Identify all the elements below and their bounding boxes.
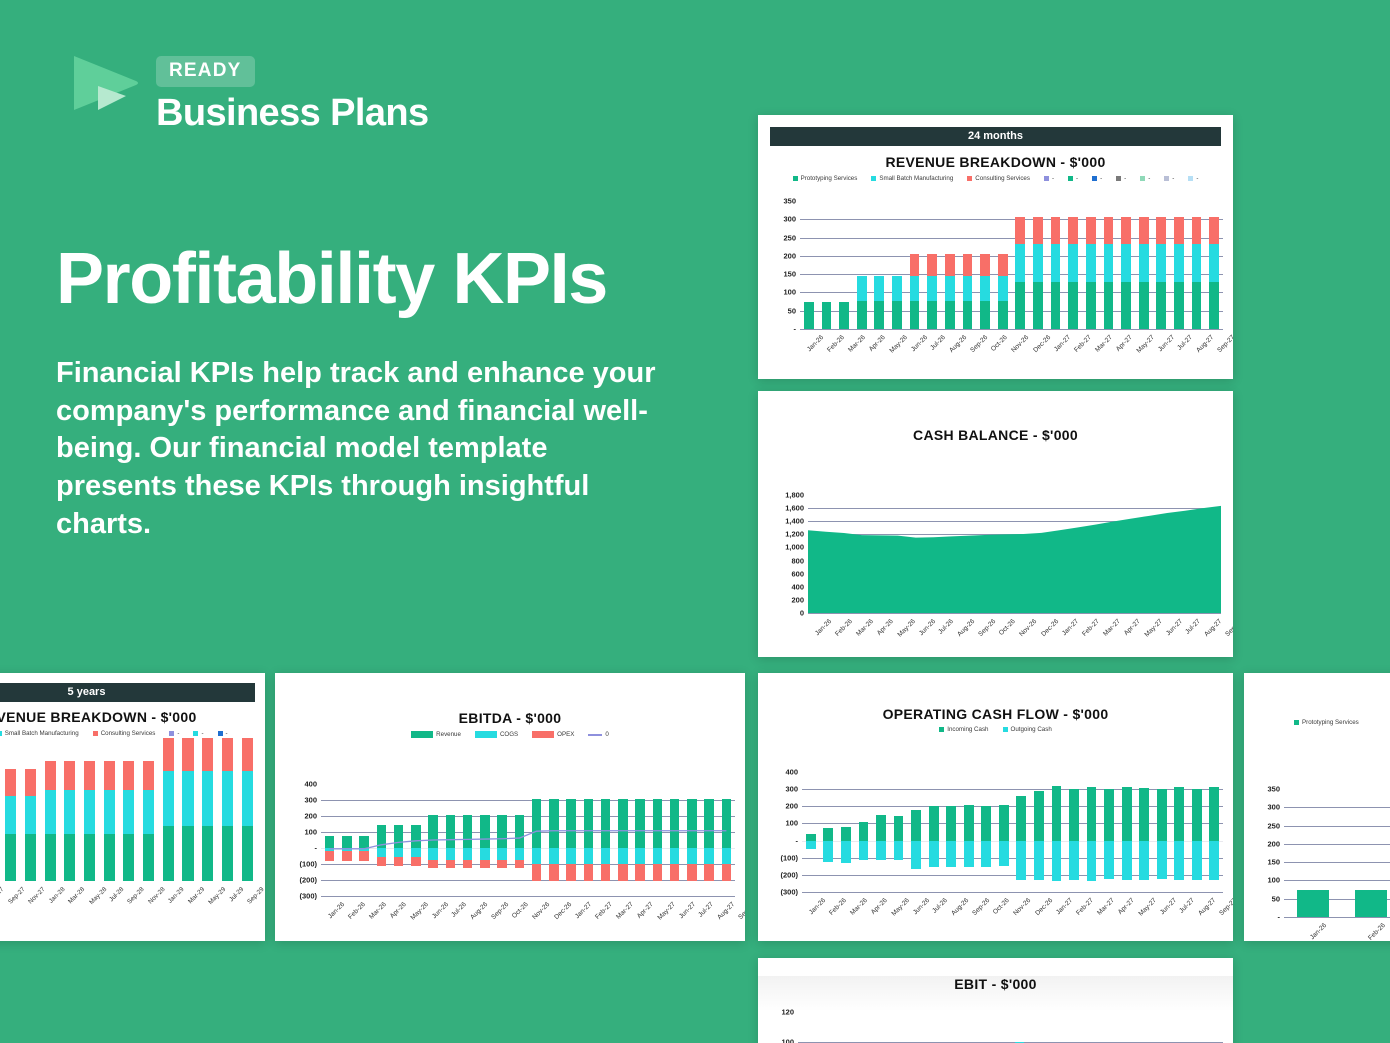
y-axis-tick: 200	[783, 251, 796, 260]
bar-group[interactable]	[837, 772, 855, 892]
bar-group-empty	[851, 1012, 869, 1043]
bar-segment	[1087, 841, 1097, 882]
legend-label: Small Batch Manufacturing	[5, 730, 79, 737]
chart-legend-operating-cash-flow: Incoming CashOutgoing Cash	[758, 726, 1233, 733]
x-axis-tick: Jul-27	[1176, 334, 1194, 352]
bar-group[interactable]	[1010, 1012, 1028, 1043]
bar-segment	[123, 761, 134, 790]
bar-group[interactable]	[1100, 201, 1118, 329]
legend-swatch-icon	[1294, 720, 1299, 725]
x-axis-tick: Feb-26	[834, 618, 854, 638]
legend-swatch-icon	[411, 731, 433, 738]
legend-label: -	[1148, 175, 1150, 182]
y-axis-tick: (100)	[780, 853, 798, 862]
bar-segment	[84, 790, 95, 834]
card-revenue-breakdown-5y: 5 years REVENUE BREAKDOWN - $'000 Protot…	[0, 673, 265, 941]
bar-segment	[874, 276, 884, 301]
x-axis-tick: Aug-26	[469, 901, 489, 921]
legend-item: Prototyping Services	[793, 175, 858, 182]
x-axis-tick: Jul-26	[450, 901, 468, 919]
bar-segment	[911, 841, 921, 870]
bar-group[interactable]	[1284, 789, 1342, 917]
bar-group[interactable]	[853, 201, 871, 329]
bar-segment	[823, 828, 833, 840]
bar-segment	[1192, 789, 1202, 840]
x-axis-slot: Jul-27	[0, 884, 1, 893]
y-axis-tick: 300	[1267, 803, 1280, 812]
bar-group[interactable]	[1188, 201, 1206, 329]
legend-item: -	[218, 730, 228, 737]
bar-segment	[964, 805, 974, 841]
bar-segment	[5, 796, 16, 834]
x-axis-tick: May-27	[1143, 618, 1164, 639]
legend-item: Outgoing Cash	[1003, 726, 1052, 733]
bar-segment	[1015, 282, 1025, 329]
legend-item: -	[1188, 175, 1198, 182]
x-axis-tick: Mar-26	[368, 901, 388, 921]
bar-group[interactable]	[1187, 1012, 1205, 1043]
bar-group[interactable]	[1206, 772, 1224, 892]
y-axis-tick: 100	[1267, 876, 1280, 885]
bar-segment	[163, 738, 174, 771]
bar-group[interactable]	[1048, 772, 1066, 892]
y-axis-tick: -	[794, 325, 797, 334]
bar-group[interactable]	[1342, 789, 1390, 917]
bar-group[interactable]	[1012, 201, 1030, 329]
bar-segment	[1069, 841, 1079, 880]
bar-group[interactable]	[1170, 201, 1188, 329]
legend-label: Incoming Cash	[947, 726, 988, 733]
bar-series	[800, 201, 1223, 329]
x-axis-tick: Nov-27	[27, 886, 47, 906]
bar-group[interactable]	[1046, 1012, 1064, 1043]
legend-item: -	[169, 730, 179, 737]
x-axis-tick: Aug-27	[1203, 618, 1223, 638]
x-axis-labels: Jan-26Feb-26Mar-26Apr-26May-	[1284, 920, 1390, 929]
bar-segment	[1016, 841, 1026, 881]
x-axis-tick: Sep-29	[246, 886, 265, 906]
x-axis-tick: Nov-26	[1012, 897, 1032, 917]
y-axis-tick: 300	[783, 215, 796, 224]
bar-group[interactable]	[1135, 772, 1153, 892]
bar-group[interactable]	[818, 201, 836, 329]
legend-swatch-icon	[967, 176, 972, 181]
x-axis-tick: Dec-26	[1040, 618, 1060, 638]
y-axis-tick: 250	[1267, 821, 1280, 830]
x-axis-tick: Sep-27	[737, 901, 745, 921]
bar-group[interactable]	[994, 201, 1012, 329]
x-axis-tick: Aug-26	[956, 618, 976, 638]
bar-group[interactable]	[976, 201, 994, 329]
page-description: Financial KPIs help track and enhance yo…	[56, 355, 656, 543]
bar-segment	[25, 834, 36, 881]
x-axis-tick: Jan-26	[806, 334, 825, 353]
bar-group[interactable]	[1170, 1012, 1188, 1043]
bar-group[interactable]	[1170, 772, 1188, 892]
chart-title-ebitda: EBITDA - $'000	[275, 710, 745, 726]
x-axis-labels: Jan-26Feb-26Mar-26Apr-26May-26Jun-26Jul-…	[808, 616, 1221, 625]
bar-segment	[1104, 217, 1114, 244]
y-axis-tick: 400	[791, 582, 804, 591]
y-axis-labels: 35030025020015010050-	[770, 201, 800, 329]
bar-group[interactable]	[888, 201, 906, 329]
bar-group[interactable]	[942, 772, 960, 892]
bar-group[interactable]	[139, 753, 159, 881]
bar-segment	[1034, 841, 1044, 881]
bar-group[interactable]	[1205, 1012, 1223, 1043]
y-axis-tick: (200)	[299, 876, 317, 885]
y-axis-tick: (100)	[299, 860, 317, 869]
legend-label: -	[1100, 175, 1102, 182]
bar-group[interactable]	[237, 753, 257, 881]
bar-segment	[841, 827, 851, 840]
y-axis-tick: 1,000	[785, 543, 804, 552]
bar-group[interactable]	[1, 753, 21, 881]
x-axis-tick: Feb-27	[1081, 618, 1101, 638]
x-axis-tick: Aug-27	[716, 901, 736, 921]
bar-segment	[104, 790, 115, 834]
bar-segment	[1104, 841, 1114, 880]
x-axis-tick: Sep-27	[7, 886, 27, 906]
legend-item: -	[1068, 175, 1078, 182]
bar-segment	[1139, 217, 1149, 244]
x-axis-tick: Aug-26	[950, 897, 970, 917]
chart-title-cash-balance: CASH BALANCE - $'000	[758, 427, 1233, 443]
x-axis-tick: Mar-26	[847, 334, 867, 354]
legend-item: Small Batch Manufacturing	[871, 175, 953, 182]
bar-group[interactable]	[890, 772, 908, 892]
x-axis-tick: Sep-26	[969, 334, 989, 354]
bar-group[interactable]	[198, 753, 218, 881]
x-axis-tick: Jul-27	[1178, 897, 1196, 915]
y-axis-labels: 35030025020015010050-	[1250, 789, 1284, 917]
legend-label: -	[1124, 175, 1126, 182]
y-axis-tick: 250	[783, 233, 796, 242]
y-axis-labels: 1,8001,6001,4001,2001,0008006004002000	[772, 495, 808, 613]
bar-group[interactable]	[960, 772, 978, 892]
legend-item: -	[1116, 175, 1126, 182]
bar-segment	[1156, 282, 1166, 329]
bar-group[interactable]	[871, 201, 889, 329]
x-axis-tick: Jul-29	[228, 886, 245, 903]
bar-segment	[1033, 244, 1043, 282]
x-axis-tick: Jun-27	[1156, 334, 1175, 353]
chart-title-operating-cash-flow: OPERATING CASH FLOW - $'000	[758, 706, 1233, 722]
x-axis-tick: Jan-26	[1309, 922, 1328, 941]
y-axis-tick: 120	[781, 1008, 794, 1017]
bar-segment	[5, 769, 16, 796]
bar-group-empty	[993, 1012, 1011, 1043]
band-label-24-months: 24 months	[770, 127, 1221, 146]
page-title: Profitability KPIs	[56, 243, 607, 316]
bar-segment	[980, 301, 990, 329]
legend-item: -	[1044, 175, 1054, 182]
legend-label: Consulting Services	[101, 730, 156, 737]
bar-segment	[1192, 282, 1202, 329]
x-axis-tick: May-29	[208, 886, 228, 906]
bar-segment	[84, 761, 95, 790]
gridlines	[808, 495, 1221, 613]
x-axis-slot: Jan-26	[1284, 920, 1342, 929]
gridline	[802, 892, 1223, 893]
y-axis-tick: 350	[783, 197, 796, 206]
bar-segment	[1087, 787, 1097, 840]
bar-segment	[963, 254, 973, 276]
bar-group[interactable]	[119, 753, 139, 881]
bar-segment	[1209, 787, 1219, 840]
bar-segment	[1104, 244, 1114, 282]
bar-segment	[1209, 244, 1219, 282]
chart-plot-ebit: 12010080	[772, 1012, 1223, 1043]
bar-segment	[1355, 890, 1387, 917]
y-axis-labels: 400300200100-(100)(200)(300)	[287, 784, 321, 896]
chart-legend-revenue-partial: Prototyping Services	[1244, 719, 1390, 726]
bar-group[interactable]	[959, 201, 977, 329]
bar-segment	[1104, 282, 1114, 329]
x-axis-tick: Apr-27	[1117, 897, 1136, 916]
bar-group-empty	[957, 1012, 975, 1043]
bar-segment	[1104, 789, 1114, 840]
bar-segment	[980, 254, 990, 276]
x-axis-tick: May-26	[888, 334, 909, 355]
x-axis-tick: Mar-29	[187, 886, 206, 905]
x-axis-tick: May-27	[1137, 897, 1158, 918]
x-axis-tick: Sep-27	[1224, 618, 1233, 638]
bar-group[interactable]	[907, 772, 925, 892]
bar-group[interactable]	[1135, 201, 1153, 329]
x-axis-tick: Jul-26	[937, 618, 955, 636]
bar-group[interactable]	[855, 772, 873, 892]
legend-label: Small Batch Manufacturing	[879, 175, 953, 182]
gridlines	[0, 753, 257, 881]
legend-swatch-icon	[1092, 176, 1097, 181]
bar-group[interactable]	[1099, 1012, 1117, 1043]
x-axis-tick: Apr-26	[389, 901, 408, 920]
x-axis-tick: Dec-26	[1034, 897, 1054, 917]
y-axis-tick: 1,600	[785, 504, 804, 513]
x-axis-tick: Mar-26	[849, 897, 869, 917]
bar-segment	[202, 738, 213, 771]
legend-swatch-icon	[193, 731, 198, 736]
chart-title-revenue-5y: REVENUE BREAKDOWN - $'000	[0, 709, 265, 725]
bar-segment	[45, 790, 56, 834]
legend-label: -	[1196, 175, 1198, 182]
legend-swatch-icon	[1164, 176, 1169, 181]
bar-group[interactable]	[1134, 1012, 1152, 1043]
bar-group[interactable]	[1064, 201, 1082, 329]
legend-label: -	[1172, 175, 1174, 182]
bar-segment	[927, 276, 937, 301]
x-axis-slot: Jan-26	[808, 616, 828, 625]
y-axis-tick: 200	[1267, 839, 1280, 848]
bar-segment	[1051, 217, 1061, 244]
legend-item: -	[1092, 175, 1102, 182]
bar-segment	[1068, 217, 1078, 244]
bar-group[interactable]	[1064, 1012, 1082, 1043]
zero-trend-line	[321, 784, 735, 896]
legend-label: -	[177, 730, 179, 737]
bar-segment	[999, 805, 1009, 841]
bar-group[interactable]	[1083, 772, 1101, 892]
bar-group[interactable]	[1013, 772, 1031, 892]
x-axis-tick: Oct-26	[998, 618, 1017, 637]
bar-segment	[1192, 841, 1202, 880]
bar-group[interactable]	[1117, 1012, 1135, 1043]
x-axis-tick: Jan-27	[1053, 334, 1072, 353]
bar-segment	[929, 806, 939, 841]
legend-swatch-icon	[588, 734, 602, 736]
bar-group[interactable]	[906, 201, 924, 329]
bar-group[interactable]	[1029, 201, 1047, 329]
bar-group[interactable]	[923, 201, 941, 329]
bar-group[interactable]	[800, 201, 818, 329]
bar-group[interactable]	[60, 753, 80, 881]
bar-group[interactable]	[1081, 1012, 1099, 1043]
x-axis-tick: Feb-26	[347, 901, 367, 921]
x-axis-tick: Aug-26	[948, 334, 968, 354]
bar-group[interactable]	[1205, 201, 1223, 329]
bar-group[interactable]	[1117, 201, 1135, 329]
bar-group[interactable]	[802, 772, 820, 892]
x-axis-tick: Apr-26	[868, 334, 887, 353]
bar-segment	[822, 302, 832, 329]
bar-group[interactable]	[99, 753, 119, 881]
chart-legend-revenue-5y: Prototyping ServicesSmall Batch Manufact…	[0, 730, 265, 737]
bar-segment	[910, 254, 920, 276]
bar-segment	[1068, 282, 1078, 329]
bar-segment	[1156, 244, 1166, 282]
x-axis-labels: Jan-26Feb-26Mar-26Apr-26May-26Jun-26Jul-…	[802, 895, 1223, 904]
legend-swatch-icon	[1068, 176, 1073, 181]
legend-item: COGS	[475, 731, 518, 738]
bar-group[interactable]	[218, 753, 238, 881]
bar-group[interactable]	[1030, 772, 1048, 892]
gridlines	[321, 784, 735, 896]
bar-segment	[222, 771, 233, 826]
bar-group[interactable]	[40, 753, 60, 881]
x-axis-tick: Feb-27	[594, 901, 614, 921]
bar-segment	[222, 826, 233, 881]
x-axis-tick: Sep-27	[1218, 897, 1233, 917]
bar-group[interactable]	[178, 753, 198, 881]
chart-title-revenue-24m: REVENUE BREAKDOWN - $'000	[758, 154, 1233, 170]
legend-swatch-icon	[793, 176, 798, 181]
legend-label: -	[201, 730, 203, 737]
bar-segment	[964, 841, 974, 867]
y-axis-tick: 50	[1272, 894, 1280, 903]
legend-item: 0	[588, 731, 608, 738]
y-axis-tick: 150	[1267, 858, 1280, 867]
bar-group[interactable]	[158, 753, 178, 881]
y-axis-tick: 400	[304, 780, 317, 789]
bar-segment	[1121, 282, 1131, 329]
bar-group[interactable]	[1153, 772, 1171, 892]
bar-group[interactable]	[1082, 201, 1100, 329]
x-axis-tick: Apr-26	[876, 618, 895, 637]
bar-group[interactable]	[925, 772, 943, 892]
legend-swatch-icon	[169, 731, 174, 736]
bar-group-empty	[816, 1012, 834, 1043]
bar-segment	[859, 841, 869, 860]
bar-group[interactable]	[1028, 1012, 1046, 1043]
bar-segment	[1051, 282, 1061, 329]
bar-group[interactable]	[1118, 772, 1136, 892]
bar-group[interactable]	[1047, 201, 1065, 329]
bar-segment	[1209, 841, 1219, 880]
x-axis-tick: Mar-27	[1102, 618, 1122, 638]
bar-segment	[894, 841, 904, 860]
gridlines	[800, 201, 1223, 329]
bar-segment	[1068, 244, 1078, 282]
bar-group-empty	[975, 1012, 993, 1043]
bar-group-empty	[904, 1012, 922, 1043]
bar-group[interactable]	[820, 772, 838, 892]
y-axis-tick: 100	[783, 288, 796, 297]
x-axis-tick: May-26	[896, 618, 917, 639]
play-triangle-logo-icon	[70, 52, 142, 114]
x-axis-tick: May-28	[88, 886, 108, 906]
bar-segment	[25, 796, 36, 834]
legend-label: Prototyping Services	[1302, 719, 1359, 726]
x-axis-tick: Oct-26	[511, 901, 530, 920]
area-series	[808, 495, 1221, 613]
bar-segment	[84, 834, 95, 881]
y-axis-tick: 100	[304, 828, 317, 837]
bar-group[interactable]	[835, 201, 853, 329]
bar-segment	[999, 841, 1009, 867]
legend-item: Incoming Cash	[939, 726, 988, 733]
x-axis-tick: Jun-27	[1158, 897, 1177, 916]
bar-segment	[182, 738, 193, 771]
y-axis-tick: 1,800	[785, 491, 804, 500]
bar-group[interactable]	[80, 753, 100, 881]
bar-segment	[945, 301, 955, 329]
x-axis-tick: Jun-27	[677, 901, 696, 920]
bar-group[interactable]	[1100, 772, 1118, 892]
x-axis-tick: Dec-26	[553, 901, 573, 921]
y-axis-labels: 400300200100-(100)(200)(300)	[770, 772, 802, 892]
bar-group[interactable]	[872, 772, 890, 892]
bar-segment	[874, 301, 884, 329]
bar-group[interactable]	[1065, 772, 1083, 892]
gridline	[321, 896, 735, 897]
x-axis-tick: May-26	[409, 901, 430, 922]
bar-group[interactable]	[1153, 201, 1171, 329]
card-ebit: EBIT - $'000 12010080	[758, 958, 1233, 1043]
card-cash-balance: CASH BALANCE - $'000 1,8001,6001,4001,20…	[758, 391, 1233, 657]
x-axis-slot: Feb-26	[1342, 920, 1390, 929]
legend-label: -	[1052, 175, 1054, 182]
x-axis-tick: Dec-26	[1032, 334, 1052, 354]
legend-item: -	[193, 730, 203, 737]
bar-group-empty	[798, 1012, 816, 1043]
legend-label: COGS	[500, 731, 518, 738]
y-axis-tick: 300	[785, 785, 798, 794]
bar-group[interactable]	[1188, 772, 1206, 892]
bar-group[interactable]	[21, 753, 41, 881]
bar-segment	[1034, 791, 1044, 841]
bar-segment	[945, 276, 955, 301]
x-axis-tick: Apr-27	[1115, 334, 1134, 353]
x-axis-tick: Mar-27	[1094, 334, 1114, 354]
bar-segment	[163, 771, 174, 826]
y-axis-tick: 1,200	[785, 530, 804, 539]
bar-group[interactable]	[977, 772, 995, 892]
bar-group[interactable]	[941, 201, 959, 329]
card-operating-cash-flow: OPERATING CASH FLOW - $'000 Incoming Cas…	[758, 673, 1233, 941]
bar-group[interactable]	[995, 772, 1013, 892]
bar-group[interactable]	[1152, 1012, 1170, 1043]
